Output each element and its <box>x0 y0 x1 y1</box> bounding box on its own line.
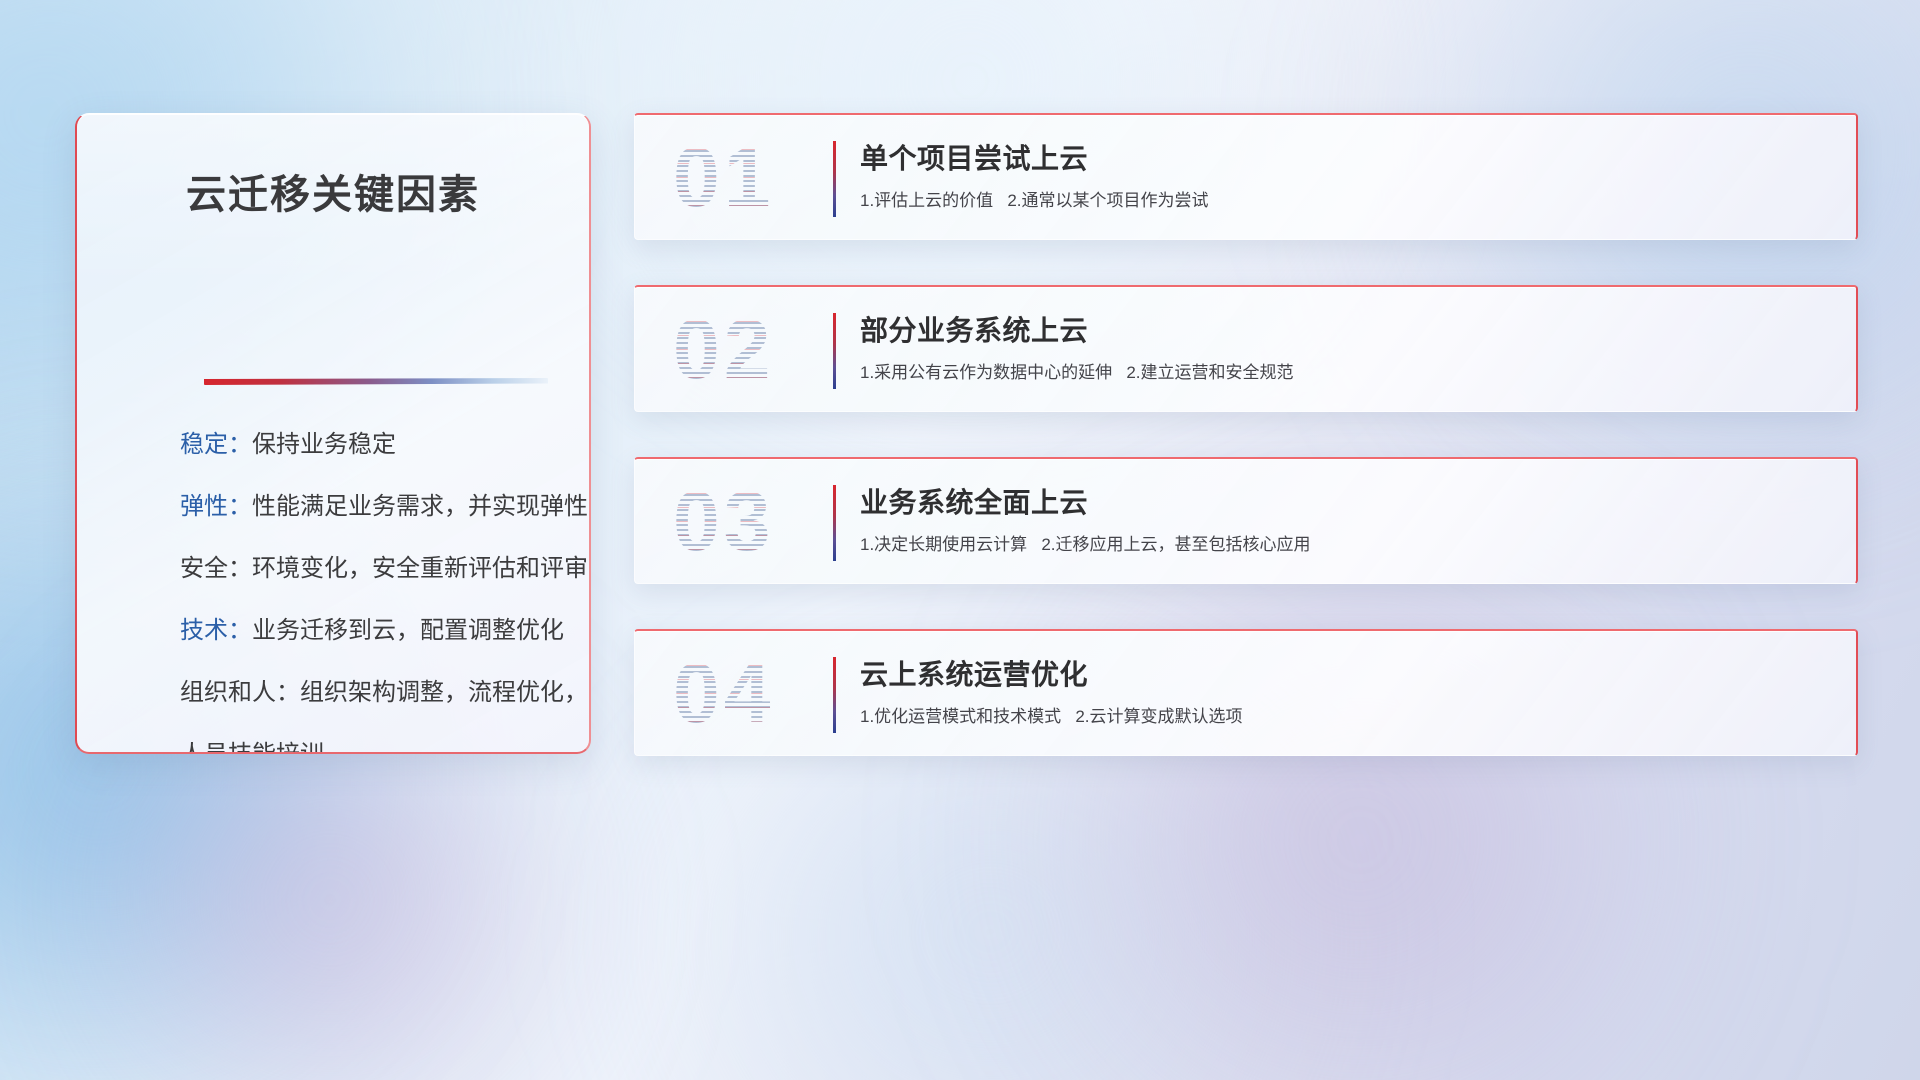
key-factor-item: 技术：业务迁移到云，配置调整优化 <box>180 600 559 662</box>
stage-divider-accent <box>833 313 836 389</box>
key-factors-panel: 云迁移关键因素 稳定：保持业务稳定弹性：性能满足业务需求，并实现弹性安全：环境变… <box>75 113 591 754</box>
key-factor-value: 性能满足业务需求，并实现弹性 <box>252 493 588 520</box>
key-factor-item: 安全：环境变化，安全重新评估和评审 <box>180 538 559 600</box>
stage-card[interactable]: 0202部分业务系统上云1.采用公有云作为数据中心的延伸 2.建立运营和安全规范 <box>634 285 1858 412</box>
stage-description: 1.评估上云的价值 2.通常以某个项目作为尝试 <box>860 189 1832 213</box>
stage-text-block: 部分业务系统上云1.采用公有云作为数据中心的延伸 2.建立运营和安全规范 <box>860 313 1832 385</box>
key-factor-value: 人员技能培训 <box>180 741 324 754</box>
key-factor-label: 安全： <box>180 555 252 582</box>
stage-divider-accent <box>833 141 836 217</box>
stage-card[interactable]: 0404云上系统运营优化1.优化运营模式和技术模式 2.云计算变成默认选项 <box>634 629 1858 756</box>
stage-title: 云上系统运营优化 <box>860 657 1832 692</box>
stage-divider-accent <box>833 485 836 561</box>
key-factor-item: 人员技能培训 <box>180 724 559 754</box>
stage-number-red-stripe-overlay: 03 <box>673 479 774 563</box>
stage-divider-accent <box>833 657 836 733</box>
cloud-migration-stages: 0101单个项目尝试上云1.评估上云的价值 2.通常以某个项目作为尝试0202部… <box>634 113 1858 756</box>
stage-card[interactable]: 0303业务系统全面上云1.决定长期使用云计算 2.迁移应用上云，甚至包括核心应… <box>634 457 1858 584</box>
stage-text-block: 云上系统运营优化1.优化运营模式和技术模式 2.云计算变成默认选项 <box>860 657 1832 729</box>
stage-title: 业务系统全面上云 <box>860 485 1832 520</box>
key-factor-value: 组织架构调整，流程优化， <box>300 679 588 706</box>
key-factor-label: 稳定： <box>180 431 252 458</box>
stage-number-red-stripe-overlay: 04 <box>673 651 774 735</box>
key-factor-value: 保持业务稳定 <box>252 431 396 458</box>
key-factor-label: 技术： <box>180 617 252 644</box>
stage-title: 单个项目尝试上云 <box>860 141 1832 176</box>
key-factors-list: 稳定：保持业务稳定弹性：性能满足业务需求，并实现弹性安全：环境变化，安全重新评估… <box>180 414 559 754</box>
stage-card[interactable]: 0101单个项目尝试上云1.评估上云的价值 2.通常以某个项目作为尝试 <box>634 113 1858 240</box>
stage-description: 1.决定长期使用云计算 2.迁移应用上云，甚至包括核心应用 <box>860 533 1832 557</box>
key-factor-value: 环境变化，安全重新评估和评审 <box>252 555 588 582</box>
key-factor-value: 业务迁移到云，配置调整优化 <box>252 617 564 644</box>
key-factor-label: 弹性： <box>180 493 252 520</box>
stage-text-block: 业务系统全面上云1.决定长期使用云计算 2.迁移应用上云，甚至包括核心应用 <box>860 485 1832 557</box>
stage-text-block: 单个项目尝试上云1.评估上云的价值 2.通常以某个项目作为尝试 <box>860 141 1832 213</box>
page-title: 云迁移关键因素 <box>77 162 589 220</box>
stage-title: 部分业务系统上云 <box>860 313 1832 348</box>
key-factor-item: 稳定：保持业务稳定 <box>180 414 559 476</box>
stage-description: 1.采用公有云作为数据中心的延伸 2.建立运营和安全规范 <box>860 361 1832 385</box>
key-factor-item: 组织和人：组织架构调整，流程优化， <box>180 662 559 724</box>
stage-number-red-stripe-overlay: 02 <box>673 307 774 391</box>
key-factor-item: 弹性：性能满足业务需求，并实现弹性 <box>180 476 559 538</box>
stage-description: 1.优化运营模式和技术模式 2.云计算变成默认选项 <box>860 705 1832 729</box>
title-underline-accent <box>204 378 548 385</box>
key-factor-label: 组织和人： <box>180 679 300 706</box>
stage-number-red-stripe-overlay: 01 <box>673 135 774 219</box>
